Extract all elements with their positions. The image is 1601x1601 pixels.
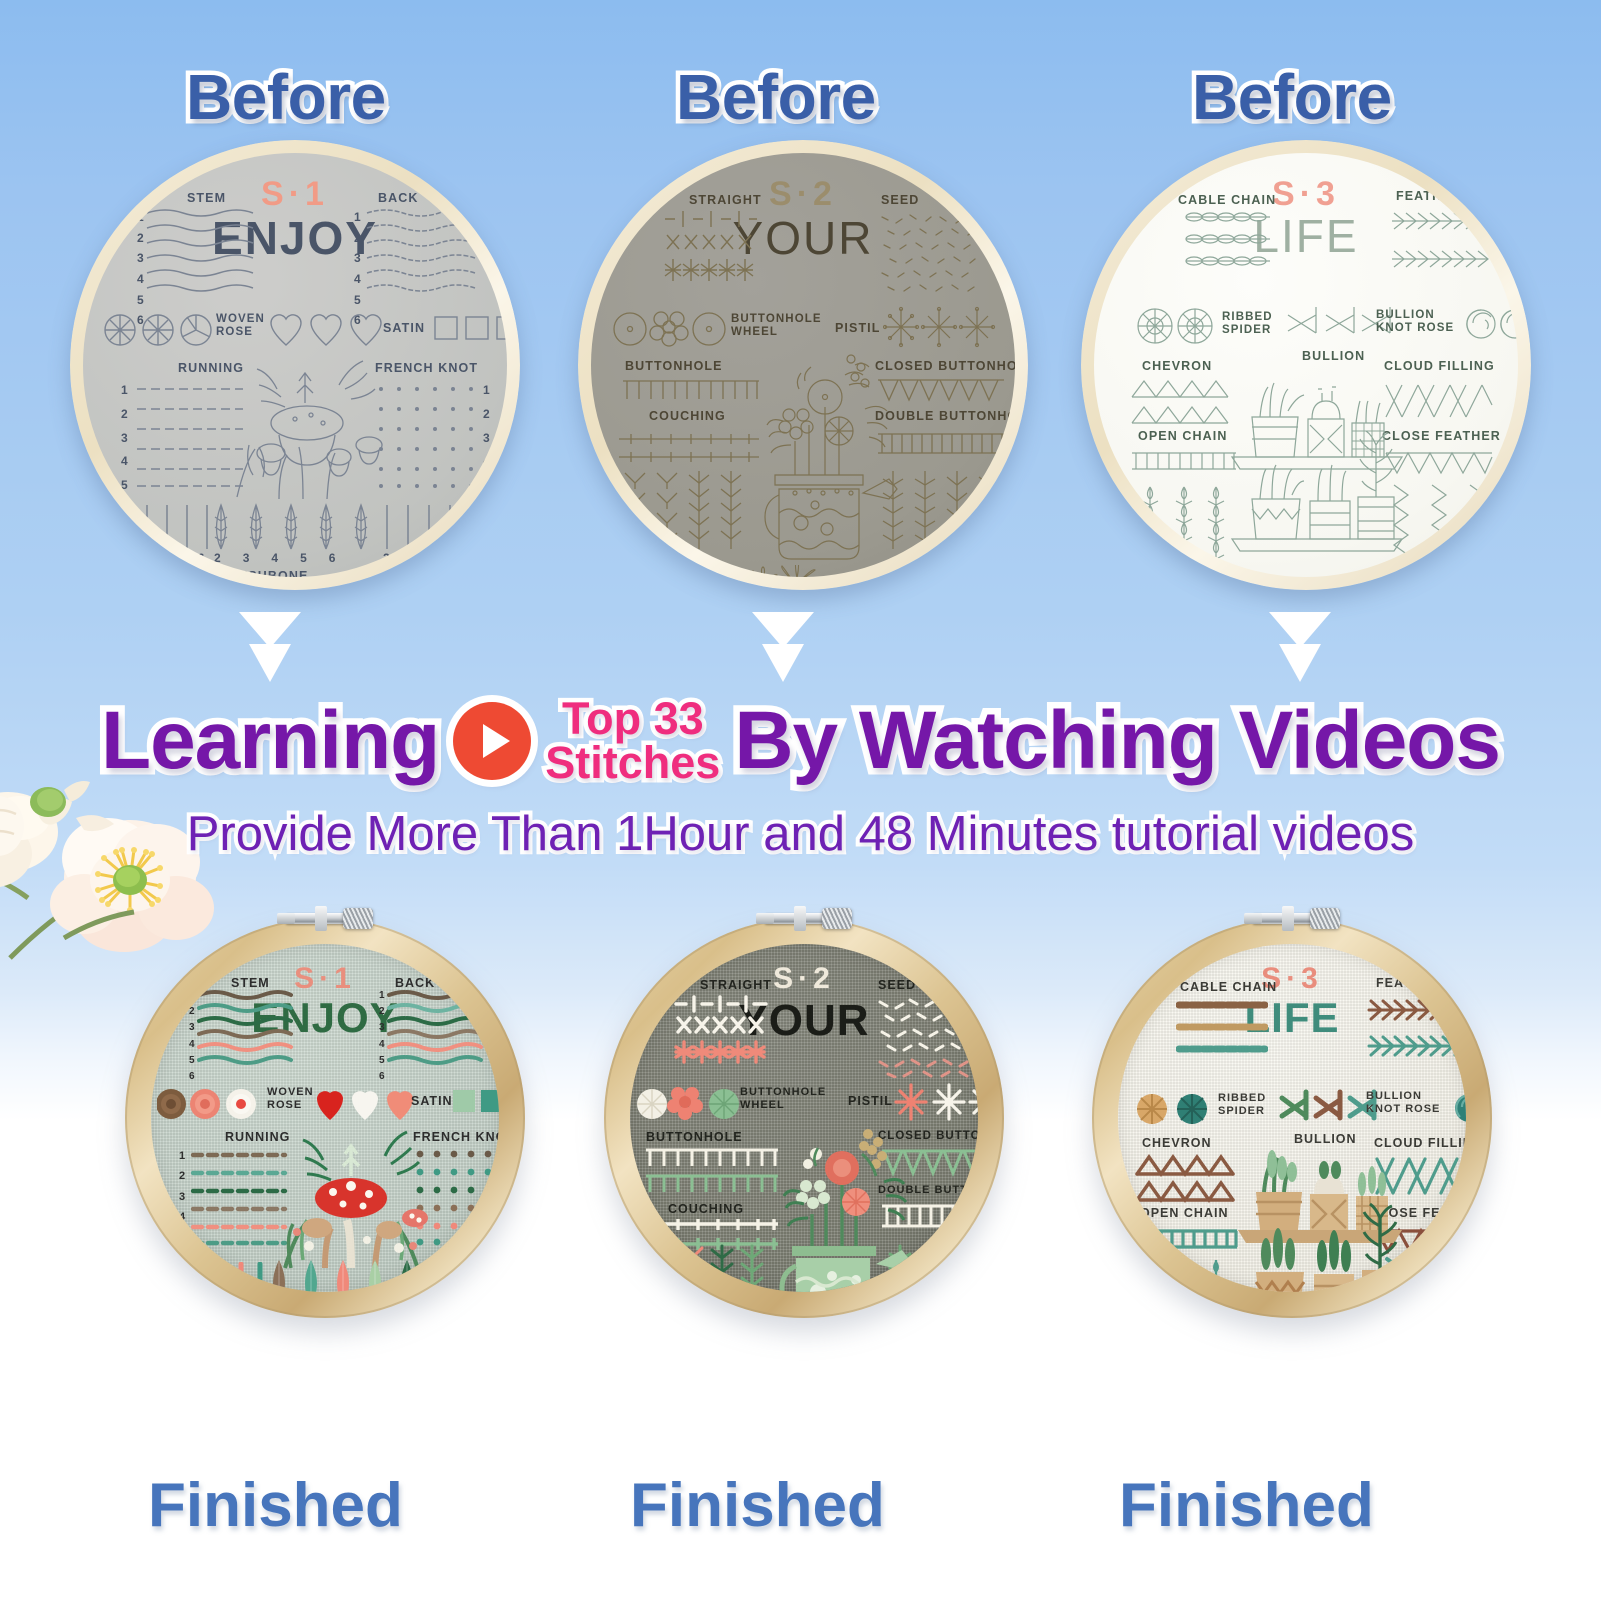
stitch-label-satin: SATIN [383,321,425,335]
buttonhole-wheel-samples [634,1084,744,1124]
stitch-label-fishbone: FISHBONE [235,569,308,577]
stitch-label-cable-chain: CABLE CHAIN [1180,980,1277,994]
stitch-label-zig-zag: ZIG ZAG [1398,569,1456,577]
stitch-label-satin: SATIN [411,1094,453,1108]
before-label-1: Before [186,60,386,134]
fly-stitch-columns [650,1244,770,1292]
sampler-signature: S·2 [769,175,837,214]
stitch-label-ribbed-spider: RIBBEDSPIDER [1222,311,1273,337]
top-stitches-badge: Top 33 Stitches [545,697,720,784]
double-chevron-down-icon-2 [748,608,818,686]
bullion-knot-rose-samples [1454,1088,1466,1128]
running-row-numbers: 123456 [179,1146,186,1268]
back-stitch-rows [387,988,483,1066]
stitch-label-back: BACK [378,191,419,205]
infographic-canvas: Before Before Before S·1 ENJOY STEM BACK… [0,0,1601,1601]
stitch-label-feather: FEATHER [1396,189,1462,203]
whipped-back-bars [419,1262,499,1292]
chain-stitch-bars [179,1262,279,1292]
back-stitch-rows [365,205,477,301]
stitch-label-bullion-knot-rose: BULLIONKNOT ROSE [1366,1090,1440,1115]
finished-hoop-sampler-3: S·3 LIFE CABLE CHAIN FEATHER [1092,918,1492,1318]
hoop-tension-screw [756,906,852,930]
banner-learning-text: Learning [101,694,439,788]
finished-label-1: Finished [148,1470,403,1541]
stitch-label-fern: FERN [909,557,947,571]
fishbone-leaves [211,501,391,551]
stitch-label-straight: STRAIGHT [700,978,772,992]
sampler-signature: S·2 [773,962,835,996]
feather-stitch-rows [1366,998,1466,1066]
chevron-rows [1130,379,1234,429]
double-chevron-down-icon-1 [235,608,305,686]
mushroom-cluster-motif [219,349,399,499]
row-numbers-left: 123456 [189,988,196,1085]
finished-hoop-sampler-1: S·1 ENJOY STEM BACK 123456 123456 [125,918,525,1318]
stitch-label-chevron: CHEVRON [1142,359,1212,373]
promo-banner: Learning Top 33 Stitches By Watching Vid… [0,686,1601,796]
hoop-fabric: S·1 ENJOY STEM BACK 123456 123456 [83,153,507,577]
watering-can-bouquet-motif [739,345,899,561]
double-chevron-down-icon-3 [1265,608,1335,686]
pistil-stitch-samples [883,305,999,351]
fern-stitch-columns [881,469,1007,551]
stitch-label-buttonhole: BUTTONHOLE [646,1130,743,1144]
stitch-label-couching: COUCHING [649,409,726,423]
tulip-stitch-columns [1144,1258,1240,1292]
chain-numbers: 23456 [123,551,204,565]
satin-square-samples [433,313,507,345]
stitch-label-woven-rose: WOVENROSE [267,1086,314,1111]
buttonhole-wheel-samples [611,309,727,349]
before-label-3: Before [1192,60,1392,134]
woven-rose-samples [103,313,213,347]
satin-heart-samples [315,1086,425,1122]
finished-label-3: Finished [1119,1470,1374,1541]
stem-stitch-rows [197,988,293,1066]
stitch-label-feather: FEATHER [1376,976,1441,990]
fly-stitch-columns [623,469,749,551]
finished-hoop-sampler-2: S·2 YOUR STRAIGHT SEED [604,918,1004,1318]
sampler-signature: S·1 [294,962,356,996]
stitch-label-tulip: TULIP [1158,569,1200,577]
stitch-label-open-chain: OPEN CHAIN [1140,1206,1228,1220]
hoop-fabric: S·2 YOUR STRAIGHT SEED [630,944,978,1292]
stitch-label-buttonhole-wheel: BUTTONHOLEWHEEL [731,313,822,339]
hoop-tension-screw [1244,906,1340,930]
stitch-label-chevron: CHEVRON [1142,1136,1212,1150]
tutorial-duration-subtitle: Provide More Than 1Hour and 48 Minutes t… [0,806,1601,862]
banner-watching-videos-text: By Watching Videos [734,694,1500,788]
stitch-label-bullion-knot-rose: BULLIONKNOT ROSE [1376,309,1454,335]
cable-chain-rows [1184,211,1272,281]
hoop-fabric: S·1 ENJOY STEM BACK 123456 123456 [151,944,499,1292]
stitch-label-open-chain: OPEN CHAIN [1138,429,1227,443]
hoop-fabric: S·2 YOUR STRAIGHT SEED [591,153,1015,577]
straight-stitch-rows [663,209,759,299]
stitch-label-buttonhole-wheel: BUTTONHOLEWHEEL [740,1086,826,1111]
straight-stitch-rows [674,994,770,1078]
fishbone-leaves [265,1258,431,1292]
stitch-label-buttonhole: BUTTONHOLE [625,359,723,373]
row-numbers-right: 123456 [379,988,386,1085]
open-chain-row [1130,449,1238,473]
hoop-tension-screw [277,906,373,930]
stitch-label-seed: SEED [881,193,919,207]
play-icon[interactable] [453,702,531,780]
stitch-label-couching: COUCHING [668,1202,744,1216]
french-knot-row-numbers: 123456 [483,379,490,522]
potted-cactus-shelf-motif [1226,349,1406,569]
stitch-label-stem: STEM [187,191,226,205]
hoop-fabric: S·3 LIFE CABLE CHAIN FEATHER [1118,944,1466,1292]
ribbed-spider-samples [1136,305,1216,347]
badge-line-2: Stitches [545,741,720,785]
hoop-fabric: S·3 LIFE CABLE CHAIN FEATHER [1094,153,1518,577]
whipped-back-numbers: 23456 [383,551,468,565]
woven-rose-samples [157,1086,267,1122]
before-hoop-sampler-3: S·3 LIFE CABLE CHAIN FEATHER [1081,140,1531,590]
stitch-label-pistil: PISTIL [835,321,881,335]
badge-line-1: Top 33 [562,697,704,741]
mushroom-cluster-motif [267,1120,437,1270]
lazy-daisy-samples [711,565,841,577]
open-chain-row [1132,1226,1240,1252]
stitch-label-cable-chain: CABLE CHAIN [1178,193,1276,207]
whipped-back-bars [383,503,489,553]
ribbed-spider-samples [1134,1088,1214,1130]
satin-heart-samples [269,313,389,347]
stitch-label-woven-rose: WOVENROSE [216,313,265,339]
stem-stitch-rows [145,205,255,301]
finished-label-2: Finished [630,1470,885,1541]
sampler-signature: S·1 [261,175,329,214]
feather-stitch-rows [1390,211,1490,281]
seed-stitch-fill [876,994,978,1078]
before-label-2: Before [676,60,876,134]
play-triangle [483,724,510,758]
stitch-label-chain: CHAIN [131,569,176,577]
stitch-label-seed: SEED [878,978,916,992]
stitch-label-ribbed-spider: RIBBEDSPIDER [1218,1092,1266,1117]
cable-chain-rows [1176,998,1268,1066]
seed-stitch-fill [878,209,982,299]
running-row-numbers: 123456 [121,379,128,522]
tulip-stitch-columns [1140,485,1236,565]
satin-square-samples [451,1086,499,1118]
bullion-knot-rose-samples [1466,305,1518,345]
before-hoop-sampler-2: S·2 YOUR STRAIGHT SEED [578,140,1028,590]
watering-can-bouquet-motif [760,1120,910,1292]
fishbone-numbers: 23456 [214,551,335,565]
potted-cactus-shelf-motif [1230,1126,1410,1292]
stitch-label-straight: STRAIGHT [689,193,762,207]
chevron-rows [1134,1154,1238,1206]
stitch-label-whipped-back: WHIPPED BACK [379,569,490,577]
stitch-label-pistil: PISTIL [848,1094,893,1108]
stitch-label-fly: FLY [669,557,695,571]
before-hoop-sampler-1: S·1 ENJOY STEM BACK 123456 123456 [70,140,520,590]
